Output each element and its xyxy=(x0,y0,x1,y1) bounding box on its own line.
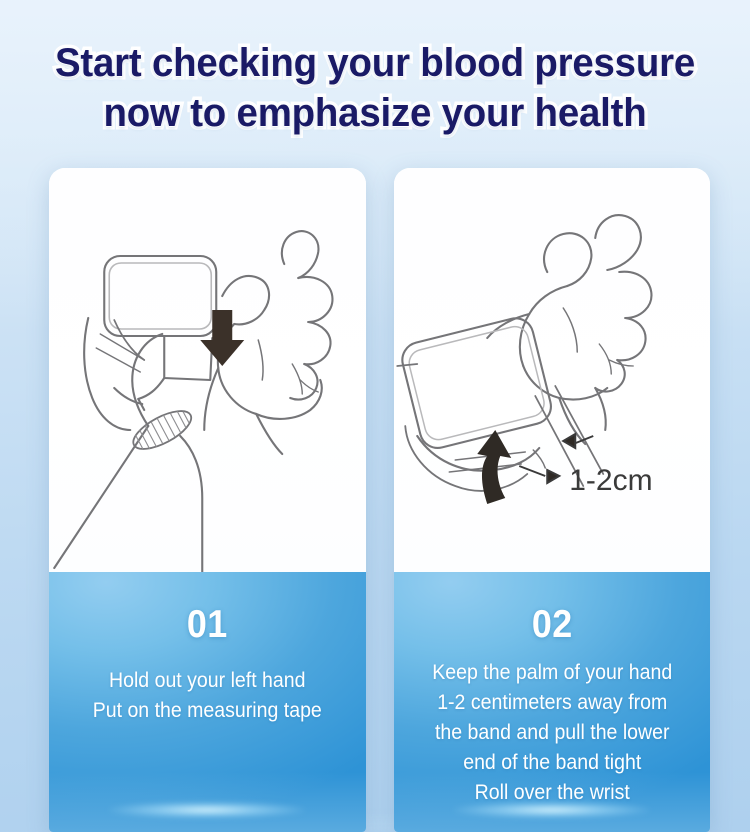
page-title-line-1: Start checking your blood pressure xyxy=(15,38,735,88)
step-02-caption-panel: 02 Keep the palm of your hand 1-2 centim… xyxy=(394,572,711,832)
step-card-01[interactable]: 01 Hold out your left hand Put on the me… xyxy=(49,168,366,832)
hatched-oval xyxy=(128,403,197,456)
step-01-illustration xyxy=(49,168,366,572)
promo-infographic-page: Start checking your blood pressure now t… xyxy=(0,0,750,832)
down-arrow-icon xyxy=(200,310,244,366)
step-01-text: Hold out your left hand Put on the measu… xyxy=(69,666,345,726)
hand-with-wrist-monitor-icon xyxy=(49,168,366,572)
step-02-number: 02 xyxy=(415,572,688,644)
dimension-label: 1-2cm xyxy=(569,464,652,497)
step-01-number: 01 xyxy=(71,572,344,644)
step-02-text: Keep the palm of your hand 1-2 centimete… xyxy=(414,658,690,808)
step-02-illustration: 1-2cm xyxy=(394,168,711,572)
step-01-caption-panel: 01 Hold out your left hand Put on the me… xyxy=(49,572,366,832)
step-card-02[interactable]: 1-2cm 02 Keep the palm of your hand 1-2 … xyxy=(394,168,711,832)
hand-with-cuff-distance-icon: 1-2cm xyxy=(394,168,711,572)
page-title-line-2: now to emphasize your health xyxy=(15,88,735,138)
steps-container: 01 Hold out your left hand Put on the me… xyxy=(49,168,710,832)
page-title: Start checking your blood pressure now t… xyxy=(0,38,750,138)
